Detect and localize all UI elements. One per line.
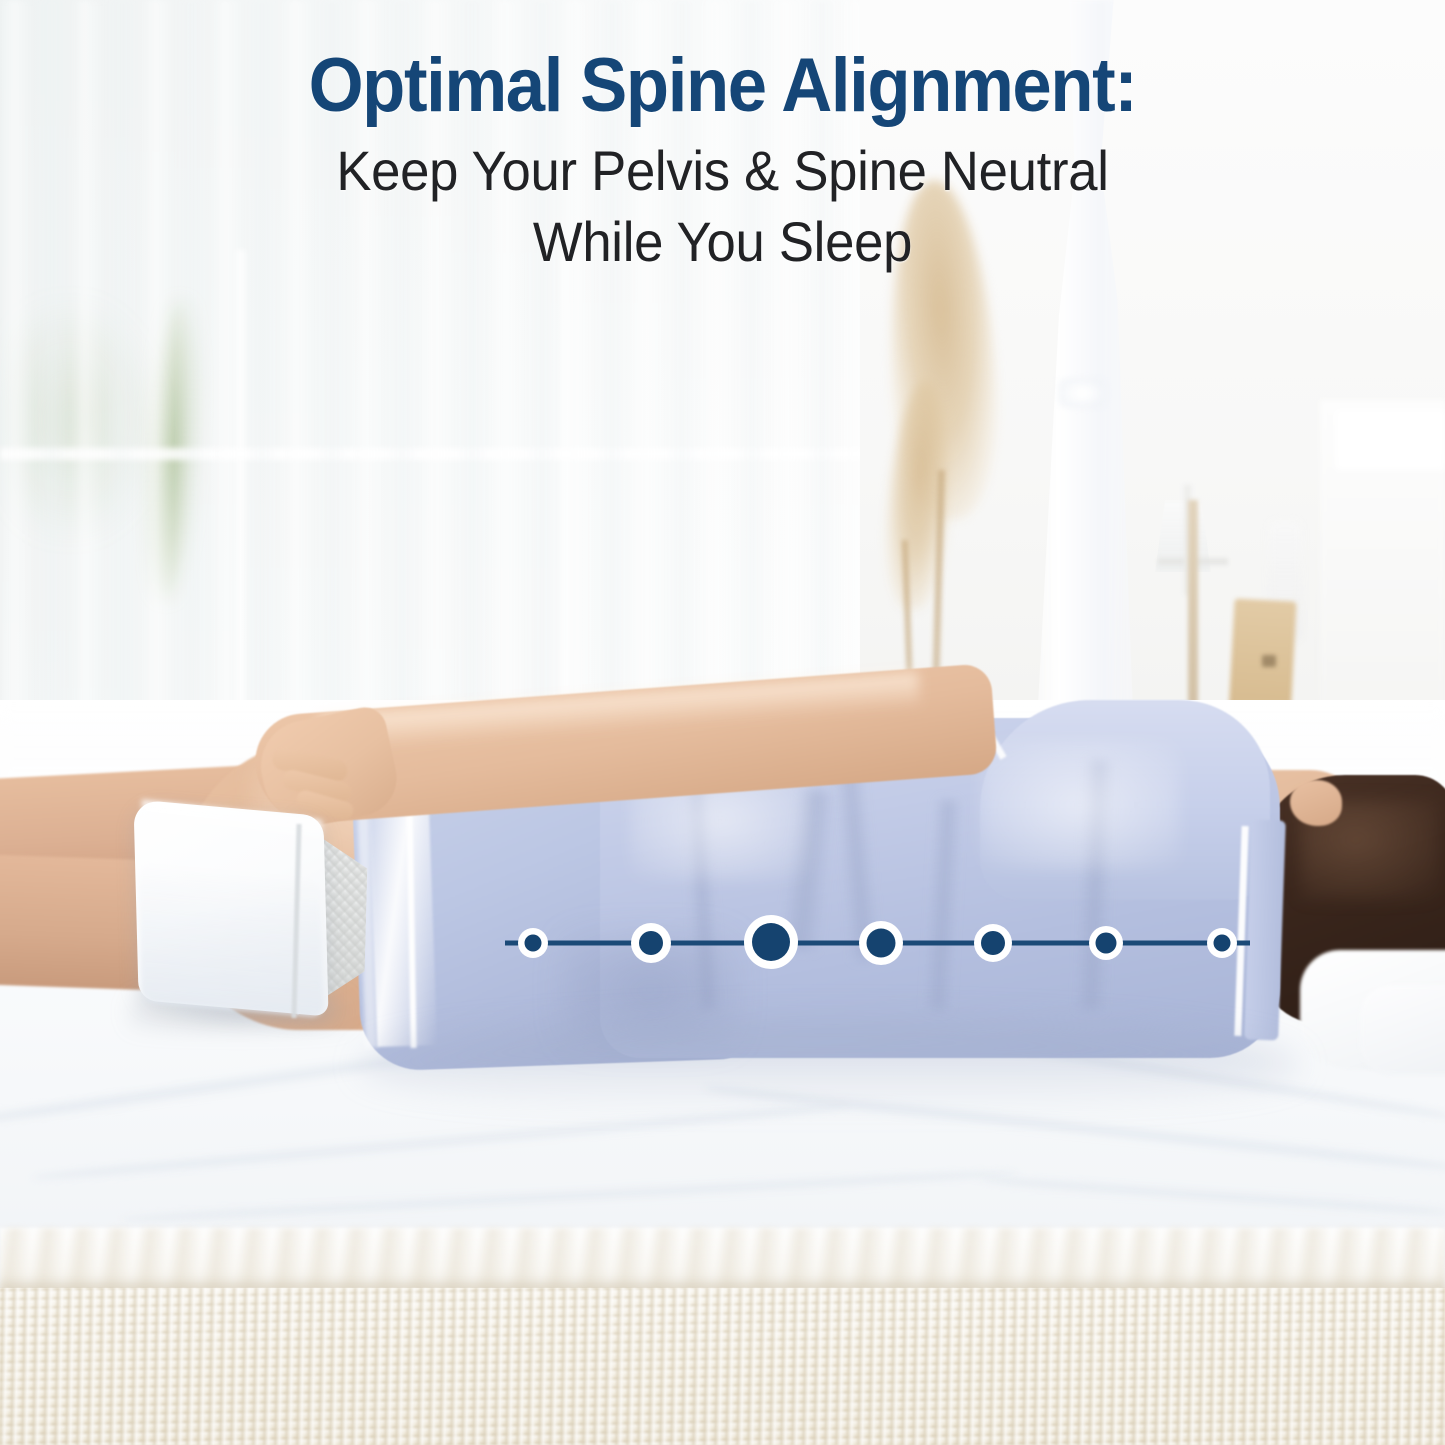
subtitle-line-2: While You Sleep — [43, 206, 1401, 277]
page-title: Optimal Spine Alignment: — [51, 46, 1395, 125]
kraft-item-mark — [1262, 655, 1276, 667]
white-panel-top — [1335, 410, 1445, 470]
headline-block: Optimal Spine Alignment: Keep Your Pelvi… — [0, 46, 1445, 277]
knit-blanket-texture — [0, 1288, 1445, 1445]
curtain-knot — [1058, 378, 1106, 408]
ear — [1290, 780, 1342, 826]
body-shadow-on-bed — [360, 1020, 1300, 1110]
fabric-highlight — [980, 740, 1180, 870]
head-pillow-fold — [1360, 985, 1445, 1075]
product-lifestyle-image: Optimal Spine Alignment: Keep Your Pelvi… — [0, 0, 1445, 1445]
subtitle-line-1: Keep Your Pelvis & Spine Neutral — [43, 135, 1401, 206]
